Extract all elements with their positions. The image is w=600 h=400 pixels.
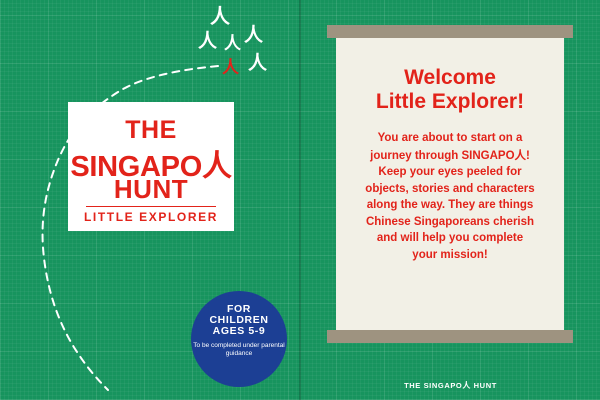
scroll-paper: Welcome Little Explorer! You are about t… [336,38,564,330]
walker-figure-icon: 人 [248,54,267,73]
body-line-2: journey through SINGAPO人! [358,147,542,165]
logo-divider [86,206,216,207]
booklet-spread: 人 人 人 人 人 人 THE SINGAPO人 HUNT LITTLE EXP… [0,0,600,400]
walker-figure-icon: 人 [224,36,241,53]
body-line-2-prefix: journey through SINGAPO [370,150,514,162]
scroll-rod-top [327,25,573,38]
scroll-graphic: Welcome Little Explorer! You are about t… [327,25,573,343]
walker-figure-icon: 人 [244,26,263,45]
ren-character-icon: 人 [462,381,471,390]
body-line-2-suffix: ! [526,150,530,162]
welcome-body-text: You are about to start on a journey thro… [358,130,542,263]
scroll-rod-bottom [327,330,573,343]
footer-prefix: THE SINGAPO [404,381,462,390]
badge-line-ages: AGES 5-9 [191,326,287,337]
walker-figure-icon: 人 [198,32,217,51]
page-footer-logo: THE SINGAPO人 HUNT [301,380,600,391]
body-line-8: your mission! [358,247,542,264]
left-page-cover: 人 人 人 人 人 人 THE SINGAPO人 HUNT LITTLE EXP… [0,0,299,400]
right-page-welcome: Welcome Little Explorer! You are about t… [301,0,600,400]
welcome-title-line1: Welcome [336,66,564,90]
footer-suffix: HUNT [471,381,497,390]
walker-figure-icon-red: 人 [222,60,239,77]
body-line-1: You are about to start on a [358,130,542,147]
age-badge: FOR CHILDREN AGES 5-9 To be completed un… [191,291,287,387]
title-logo-block: THE SINGAPO人 HUNT LITTLE EXPLORER [68,102,234,231]
logo-subtitle: LITTLE EXPLORER [68,210,234,224]
logo-line-hunt: HUNT [68,174,234,205]
body-line-6: Chinese Singaporeans cherish [358,214,542,231]
walker-figure-icon: 人 [210,6,230,26]
body-line-7: and will help you complete [358,230,542,247]
body-line-3: Keep your eyes peeled for [358,164,542,181]
welcome-title-line2: Little Explorer! [336,90,564,114]
body-line-5: along the way. They are things [358,197,542,214]
body-line-4: objects, stories and characters [358,181,542,198]
ren-character-icon: 人 [515,148,527,162]
badge-fine-print: To be completed under parental guidance [191,342,287,358]
welcome-title: Welcome Little Explorer! [336,66,564,114]
walking-figures-group: 人 人 人 人 人 人 [198,6,278,86]
